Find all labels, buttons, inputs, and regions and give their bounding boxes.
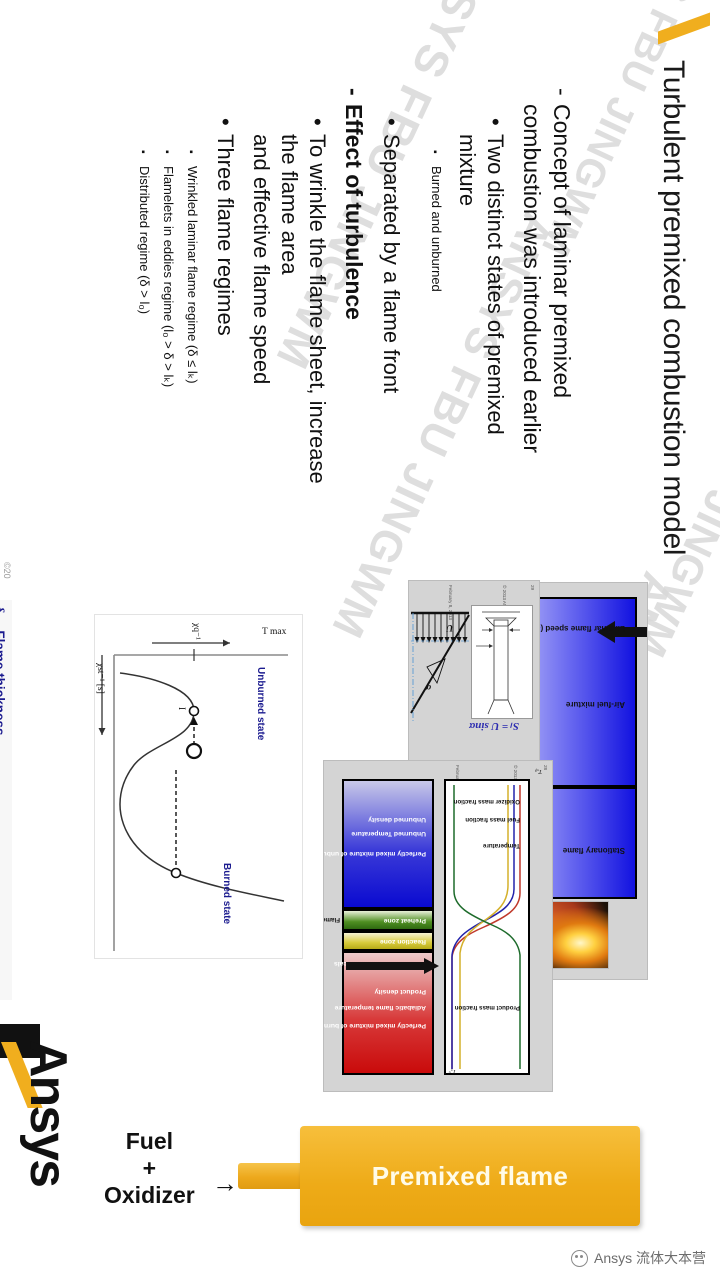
label-reaction-zone: Reaction zone	[380, 938, 426, 945]
s-curve-annotation-burned: Burned state	[221, 863, 232, 924]
fuel-line-0: Fuel	[104, 1128, 195, 1155]
symbol-legend: δ→Flame thickness lₖ→Kolmogorov length s…	[0, 600, 12, 1000]
curve-label-oxidizer: Oxidizer mass fraction	[454, 798, 520, 805]
copyright-text: ©20	[2, 562, 12, 579]
profile-curves	[446, 781, 528, 1073]
label-preheat-zone: Preheat zone	[384, 917, 426, 924]
curve-label-temperature: Temperature	[483, 842, 520, 849]
diffusion-arrow-icon	[344, 957, 440, 975]
slide-canvas: ANSYS FBU JINGWM ANSYS FBU JINGWM ANSYS …	[0, 0, 720, 1280]
brand-slash-icon	[658, 13, 710, 45]
bullet-line-4: Burned and unburned	[429, 150, 444, 292]
s-curve-svg	[93, 615, 302, 960]
s-curve-y-axis-label: T max	[262, 627, 286, 637]
legend-definition: Flame thickness	[0, 630, 7, 735]
bullet-line-13: Distributed regime (δ > l₀)	[137, 150, 152, 314]
label-air-fuel-mixture: Air-fuel mixture	[566, 700, 625, 709]
label-burned-item-1: Product density	[375, 988, 426, 995]
bullet-marker-dash	[340, 88, 367, 104]
species-profile-plot	[444, 779, 530, 1075]
bullet-line-8: the flame area	[276, 118, 302, 275]
unburned-zone	[342, 779, 434, 909]
s-curve-x-axis-label: χst⁻¹ [s]	[95, 663, 106, 694]
bunsen-burner-card	[471, 605, 533, 719]
fuel-oxidizer-label: Fuel + Oxidizer	[104, 1128, 195, 1209]
premixed-flame-label: Premixed flame	[372, 1161, 568, 1192]
wechat-avatar-icon	[571, 1250, 588, 1267]
thumbnail-flame-structure[interactable]: 28 © 2013 ANSYS, Inc. February 8, 2013 T…	[323, 760, 553, 1092]
inlet-pipe	[238, 1163, 304, 1189]
s-curve-origin-label: I	[176, 707, 186, 710]
label-flame-bracket: Flame	[323, 916, 340, 923]
account-watermark: Ansys 流体大本营	[571, 1248, 706, 1268]
s-curve-diagram: T max χst⁻¹ [s] χq⁻¹ I Unburned state Bu…	[94, 614, 303, 959]
bullet-line-1: combustion was introduced earlier	[518, 88, 545, 453]
label-burned-item-0: Adiabatic flame temperature	[335, 1004, 426, 1011]
fuel-line-2: Oxidizer	[104, 1182, 195, 1209]
flow-arrow-icon: →	[212, 1168, 238, 1199]
label-unburned-item-0: Unburned Temperature	[351, 830, 426, 837]
bullet-line-6: Effect of turbulence	[340, 88, 367, 320]
legend-item-0: δ→Flame thickness	[0, 606, 9, 994]
label-unburned-item-1: Unburned density	[368, 816, 426, 823]
bullet-marker-dot	[482, 118, 508, 134]
bunsen-burner-sketch	[470, 606, 532, 720]
label-burned-title: Perfectly mixed mixture of burned produc…	[323, 1022, 426, 1029]
bullet-line-11: Wrinkled laminar flame regime (δ ≤ lₖ)	[184, 150, 200, 384]
bullet-marker-square	[137, 150, 152, 166]
page-title: Turbulent premixed combustion model	[656, 60, 690, 555]
s-curve-annotation-unburned: Unburned state	[255, 667, 266, 740]
bullet-marker-dash	[548, 88, 575, 104]
bullet-line-9: and effective flame speed	[248, 118, 274, 384]
label-unburned-title: Perfectly mixed mixture of unburned reac…	[323, 850, 426, 857]
plot-y-bottom-label: Tₐᵈ	[449, 1068, 456, 1075]
account-watermark-text: Ansys 流体大本营	[594, 1248, 706, 1268]
flame-angle-sketch	[408, 607, 471, 729]
bullet-marker-square	[429, 150, 444, 166]
premixed-flame-box[interactable]: Premixed flame	[300, 1126, 640, 1226]
fuel-line-1: +	[104, 1155, 195, 1182]
bullet-marker-dot	[304, 118, 330, 134]
bullet-marker-dot	[378, 118, 404, 134]
ansys-logo: Ansys	[18, 1040, 78, 1186]
label-laminar-flame-speed: Laminar flame speed (Sₗ)	[531, 624, 625, 633]
bullet-line-12: Flamelets in eddies regime (l₀ > δ > lₖ)	[160, 150, 176, 387]
bullet-line-3: mixture	[454, 118, 480, 206]
bullet-line-2: Two distinct states of premixed	[482, 118, 508, 435]
thumb-c-page: 28	[543, 765, 548, 770]
bullet-marker-square	[185, 150, 200, 166]
curve-label-product: Product mass fraction	[455, 1004, 520, 1011]
bullet-line-7: To wrinkle the flame sheet, increase	[304, 118, 330, 484]
plot-y-top-label: Tᵤᵦ	[535, 768, 542, 775]
bullet-line-10: Three flame regimes	[212, 118, 238, 336]
curve-label-fuel: Fuel mass fraction	[465, 816, 520, 823]
label-angle-alpha: α	[426, 683, 431, 693]
s-curve-tick-label: χq⁻¹	[191, 623, 202, 640]
label-stationary-flame: Stationary flame	[563, 846, 625, 855]
bullet-line-5: Separated by a flame front	[378, 118, 404, 393]
legend-symbol: δ	[0, 606, 7, 613]
label-velocity-u: U	[447, 623, 454, 633]
arrow-icon: →	[0, 613, 7, 631]
laminar-speed-formula: Sₗ = U sinα	[469, 720, 519, 733]
bullet-line-0: Concept of laminar premixed	[548, 88, 575, 398]
bullet-marker-dot	[212, 118, 238, 134]
bullet-marker-square	[161, 150, 176, 166]
thumb-b-page: 29	[530, 585, 535, 590]
